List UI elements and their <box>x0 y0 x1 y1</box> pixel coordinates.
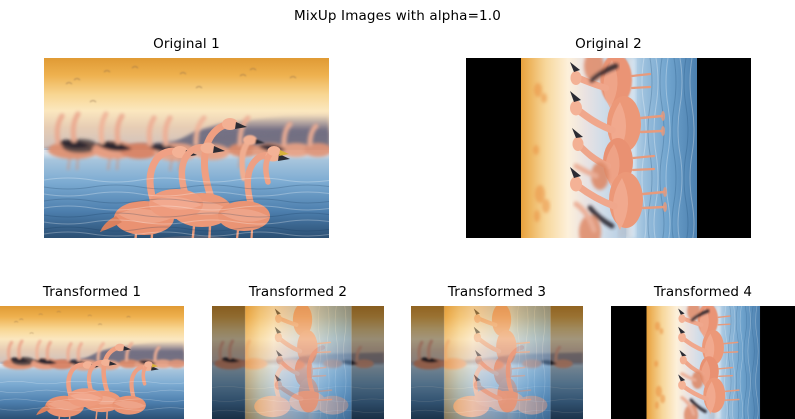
flamingo-landscape-svg <box>44 58 329 238</box>
panel-transformed-3: Transformed 3 <box>411 284 583 419</box>
mixup-output-2-svg <box>212 306 384 419</box>
flamingo-rotated-svg <box>466 58 751 238</box>
panel-title-original-1: Original 1 <box>44 36 329 52</box>
mixup-output-4-svg <box>611 306 795 419</box>
image-original-1 <box>44 58 329 238</box>
image-transformed-2 <box>212 306 384 419</box>
image-transformed-4 <box>611 306 795 419</box>
panel-title-transformed-2: Transformed 2 <box>212 284 384 300</box>
panel-title-original-2: Original 2 <box>466 36 751 52</box>
panel-transformed-2: Transformed 2 <box>212 284 384 419</box>
matplotlib-figure: MixUp Images with alpha=1.0 Original 1 <box>0 0 795 419</box>
panel-transformed-1: Transformed 1 <box>0 284 184 419</box>
figure-suptitle: MixUp Images with alpha=1.0 <box>0 8 795 24</box>
panel-title-transformed-4: Transformed 4 <box>611 284 795 300</box>
panel-transformed-4: Transformed 4 <box>611 284 795 419</box>
panel-title-transformed-1: Transformed 1 <box>0 284 184 300</box>
image-transformed-1 <box>0 306 184 419</box>
panel-original-1: Original 1 <box>44 36 329 238</box>
mixup-output-3-svg <box>411 306 583 419</box>
image-transformed-3 <box>411 306 583 419</box>
panel-title-transformed-3: Transformed 3 <box>411 284 583 300</box>
mixup-output-1-svg <box>0 306 184 419</box>
image-original-2 <box>466 58 751 238</box>
panel-original-2: Original 2 <box>466 36 751 238</box>
